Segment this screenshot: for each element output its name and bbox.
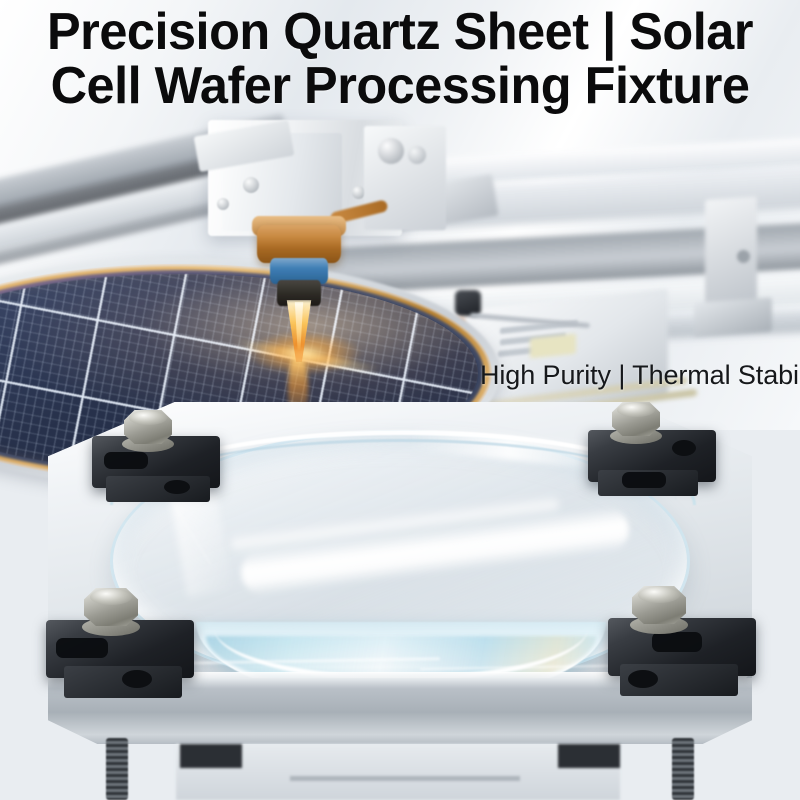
machine-base-cutout xyxy=(180,744,242,768)
threaded-leg xyxy=(106,738,128,800)
banner-subtitle: High Purity | Thermal Stability xyxy=(480,360,800,391)
laser-head-screw xyxy=(243,177,259,193)
banner-title: Precision Quartz Sheet | Solar Cell Wafe… xyxy=(12,6,788,113)
machine-base-line xyxy=(290,776,520,781)
product-photo xyxy=(0,0,800,800)
laser-head-knob xyxy=(408,146,426,164)
banner-title-line-1: Precision Quartz Sheet | Solar xyxy=(47,3,753,61)
machine-bracket xyxy=(694,297,772,336)
product-banner: Precision Quartz Sheet | Solar Cell Wafe… xyxy=(0,0,800,800)
bracket-bolt xyxy=(737,250,750,263)
machine-base-cutout xyxy=(558,744,620,768)
laser-head-right-module xyxy=(364,126,446,230)
machine-base xyxy=(176,744,620,800)
laser-head-screw xyxy=(217,198,229,210)
banner-title-line-2: Cell Wafer Processing Fixture xyxy=(20,60,780,114)
threaded-leg xyxy=(672,738,694,800)
laser-head-knob xyxy=(378,138,404,164)
